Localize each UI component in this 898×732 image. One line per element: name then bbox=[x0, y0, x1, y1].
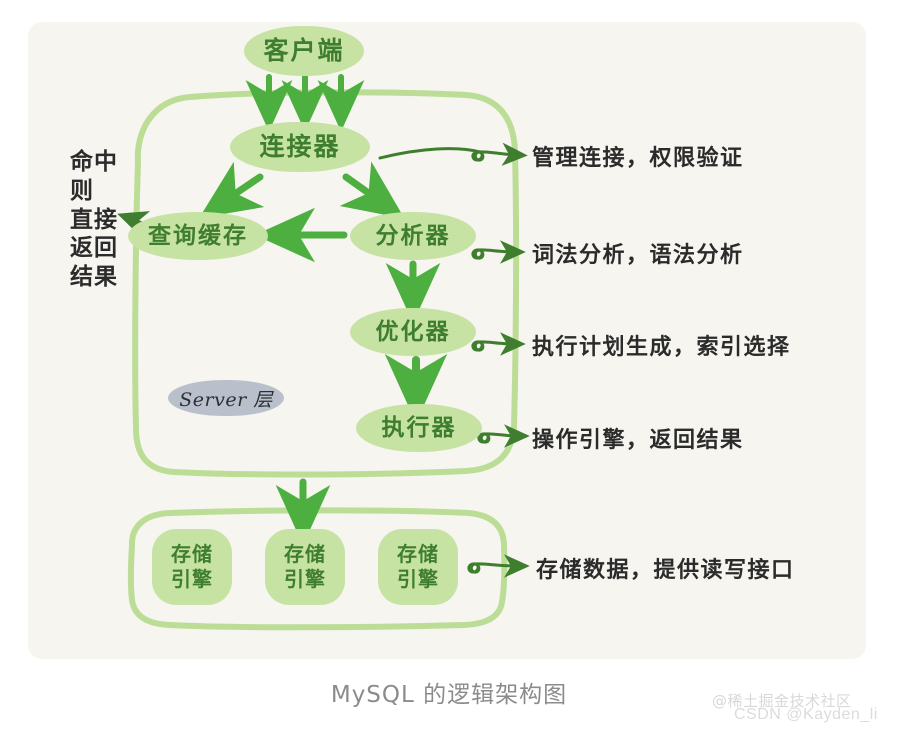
arrow-connector-to-parser bbox=[346, 177, 384, 204]
watermark-csdn: CSDN @Kayden_li bbox=[734, 706, 878, 724]
cache-hit-line-1: 命中 bbox=[70, 150, 122, 175]
node-query-cache[interactable]: 查询缓存 bbox=[128, 212, 268, 260]
arrows-client-to-connector bbox=[269, 77, 341, 110]
node-storage-engine[interactable]: 存储 引擎 bbox=[152, 529, 232, 605]
annotation-executor: 操作引擎，返回结果 bbox=[532, 422, 744, 454]
annotation-parser: 词法分析，语法分析 bbox=[532, 237, 744, 269]
arrow-connector-to-cache bbox=[220, 177, 260, 204]
page-root: 客户端 连接器 查询缓存 分析器 优化器 执行器 Server 层 存储 引擎 … bbox=[0, 0, 898, 732]
server-layer-badge: Server 层 bbox=[168, 380, 284, 416]
node-executor[interactable]: 执行器 bbox=[356, 404, 482, 452]
storage-engine-line1: 存储 bbox=[171, 542, 213, 567]
squiggle-connector-note bbox=[380, 149, 517, 160]
node-storage-engine[interactable]: 存储 引擎 bbox=[265, 529, 345, 605]
squiggle-parser-note bbox=[473, 250, 515, 258]
squiggle-storage-note bbox=[469, 564, 519, 572]
node-parser[interactable]: 分析器 bbox=[350, 212, 476, 260]
annotation-storage: 存储数据，提供读写接口 bbox=[536, 552, 795, 584]
storage-engine-line1: 存储 bbox=[397, 542, 439, 567]
storage-engine-line2: 引擎 bbox=[171, 567, 213, 592]
cache-hit-line-2: 则 bbox=[70, 179, 122, 204]
node-connector[interactable]: 连接器 bbox=[230, 122, 370, 172]
node-storage-engine[interactable]: 存储 引擎 bbox=[378, 529, 458, 605]
cache-hit-line-5: 结果 bbox=[70, 265, 122, 290]
squiggle-executor-note bbox=[479, 434, 519, 442]
node-optimizer[interactable]: 优化器 bbox=[350, 308, 476, 356]
annotation-optimizer: 执行计划生成，索引选择 bbox=[532, 329, 791, 361]
cache-hit-line-4: 返回 bbox=[70, 236, 122, 261]
node-client[interactable]: 客户端 bbox=[244, 26, 364, 76]
storage-engine-line2: 引擎 bbox=[397, 567, 439, 592]
cache-hit-line-3: 直接 bbox=[70, 208, 122, 233]
storage-engine-line1: 存储 bbox=[284, 542, 326, 567]
annotation-cache-hit: 命中 则 直接 返回 结果 bbox=[70, 150, 122, 290]
annotation-connector: 管理连接，权限验证 bbox=[532, 140, 744, 172]
storage-engine-line2: 引擎 bbox=[284, 567, 326, 592]
squiggle-optimizer-note bbox=[473, 342, 515, 350]
diagram-card: 客户端 连接器 查询缓存 分析器 优化器 执行器 Server 层 存储 引擎 … bbox=[28, 22, 866, 659]
